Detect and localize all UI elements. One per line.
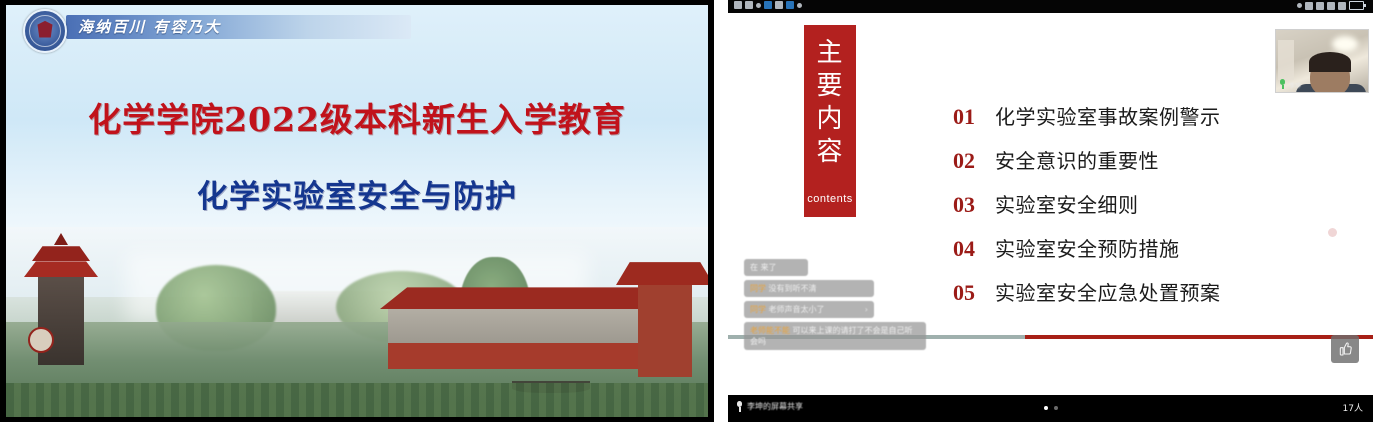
right-phone-pane: 主要内容 contents 01 化学实验室事故案例警示 02 安全意识的重要性… <box>728 0 1373 422</box>
campus-photo <box>6 227 708 417</box>
chat-bubble[interactable]: 在 来了 <box>744 259 808 276</box>
agenda-item: 01 化学实验室事故案例警示 <box>953 101 1353 145</box>
page-dot[interactable] <box>1054 406 1058 410</box>
rule-segment-red <box>1025 335 1373 339</box>
chat-text: 没有到听不清 <box>769 284 817 293</box>
contents-label-cn: 主要内容 <box>804 37 856 169</box>
mic-stand <box>739 407 741 412</box>
chat-text: 在 来了 <box>750 263 777 272</box>
photo-lotus-bank <box>6 383 708 417</box>
slide-title-sub: 化学实验室安全与防护 <box>6 171 708 216</box>
alarm-icon <box>1297 3 1302 8</box>
chat-text: 老师声音太小了 <box>769 305 825 314</box>
building-redwall <box>388 343 648 369</box>
self-video-name: 李坤 <box>1289 81 1301 90</box>
message-icon <box>764 1 772 9</box>
tower-clock <box>28 327 54 353</box>
photo-pavilion <box>622 237 708 377</box>
share-status[interactable]: 李坤的屏幕共享 <box>736 401 803 412</box>
wifi-icon <box>1338 2 1346 10</box>
decorative-dot <box>1328 228 1337 237</box>
agenda-item: 03 实验室安全细则 <box>953 189 1353 233</box>
agenda-item: 04 实验室安全预防措施 <box>953 233 1353 277</box>
agenda-text: 安全意识的重要性 <box>995 145 1159 174</box>
thumbs-up-icon[interactable] <box>1331 335 1359 363</box>
contents-banner: 主要内容 contents <box>804 25 856 217</box>
chat-sender: 老师能不能 <box>750 326 790 335</box>
bluetooth-icon <box>756 3 761 8</box>
tower-roof-upper <box>32 243 90 261</box>
video-person-hair <box>1309 52 1351 72</box>
slide-title-main: 化学学院2022级本科新生入学教育 <box>6 93 708 141</box>
agenda-list: 01 化学实验室事故案例警示 02 安全意识的重要性 03 实验室安全细则 04… <box>953 101 1353 321</box>
location-icon <box>1316 2 1324 10</box>
agenda-number: 01 <box>953 104 995 130</box>
more-icon <box>797 3 802 8</box>
status-bar-right-icons <box>1297 1 1367 10</box>
photo-main-building <box>388 265 648 369</box>
microphone-icon <box>1279 79 1286 89</box>
wifi-icon <box>745 1 753 9</box>
agenda-text: 实验室安全细则 <box>995 189 1139 218</box>
title-slide: 海纳百川 有容乃大 化学学院2022级本科新生入学教育 化学实验室安全与防护 化… <box>6 5 708 417</box>
participant-count[interactable]: 17人 <box>1343 401 1363 414</box>
screen-root: 海纳百川 有容乃大 化学学院2022级本科新生入学教育 化学实验室安全与防护 化… <box>0 0 1373 422</box>
chat-bubble[interactable]: › 同学 老师声音太小了 <box>744 301 874 318</box>
banner-motto: 海纳百川 有容乃大 <box>78 16 298 38</box>
page-dot-active[interactable] <box>1044 406 1048 410</box>
status-bar <box>728 0 1373 13</box>
signal-icon <box>734 1 742 9</box>
tower-finial <box>54 233 68 245</box>
contents-label-en: contents <box>804 193 856 205</box>
chat-bubble[interactable]: 同学 没有到听不清 <box>744 280 874 297</box>
app-icon <box>786 1 794 9</box>
chevron-right-icon: › <box>865 304 868 315</box>
screen-share-area[interactable]: 主要内容 contents 01 化学实验室事故案例警示 02 安全意识的重要性… <box>728 13 1373 395</box>
chat-sender: 同学 <box>750 305 766 314</box>
share-label: 李坤的屏幕共享 <box>747 401 803 412</box>
video-side-object <box>1278 40 1294 80</box>
agenda-item: 02 安全意识的重要性 <box>953 145 1353 189</box>
crest-ring <box>29 15 61 47</box>
agenda-number: 05 <box>953 280 995 306</box>
pane-divider <box>714 0 728 422</box>
status-bar-left-icons <box>734 1 802 9</box>
chat-overlay[interactable]: 在 来了 同学 没有到听不清 › 同学 老师声音太小了 老师能不能 可以来上课的… <box>744 259 934 354</box>
agenda-text: 化学实验室事故案例警示 <box>995 101 1221 130</box>
mic-stand <box>1282 85 1284 89</box>
university-crest-icon <box>23 9 67 53</box>
agenda-number: 04 <box>953 236 995 262</box>
video-ceiling-light <box>1332 36 1358 52</box>
chat-bubble[interactable]: 老师能不能 可以来上课的请打了不会是自己听 会吗 <box>744 322 926 350</box>
microphone-icon <box>736 401 743 412</box>
self-video-thumbnail[interactable]: 李坤 <box>1275 29 1369 93</box>
battery-icon <box>1349 1 1364 10</box>
signal-icon <box>1327 2 1335 10</box>
agenda-item: 05 实验室安全应急处置预案 <box>953 277 1353 321</box>
pavilion-roof <box>616 259 708 285</box>
agenda-number: 02 <box>953 148 995 174</box>
page-indicator[interactable] <box>1044 406 1058 410</box>
left-slide-pane: 海纳百川 有容乃大 化学学院2022级本科新生入学教育 化学实验室安全与防护 化… <box>0 0 714 422</box>
bottom-bar: 李坤的屏幕共享 17人 <box>728 395 1373 422</box>
agenda-text: 实验室安全应急处置预案 <box>995 277 1221 306</box>
volume-icon <box>775 1 783 9</box>
chat-sender: 同学 <box>750 284 766 293</box>
agenda-number: 03 <box>953 192 995 218</box>
agenda-text: 实验室安全预防措施 <box>995 233 1180 262</box>
sync-icon <box>1305 2 1313 10</box>
pavilion-column <box>638 281 692 377</box>
